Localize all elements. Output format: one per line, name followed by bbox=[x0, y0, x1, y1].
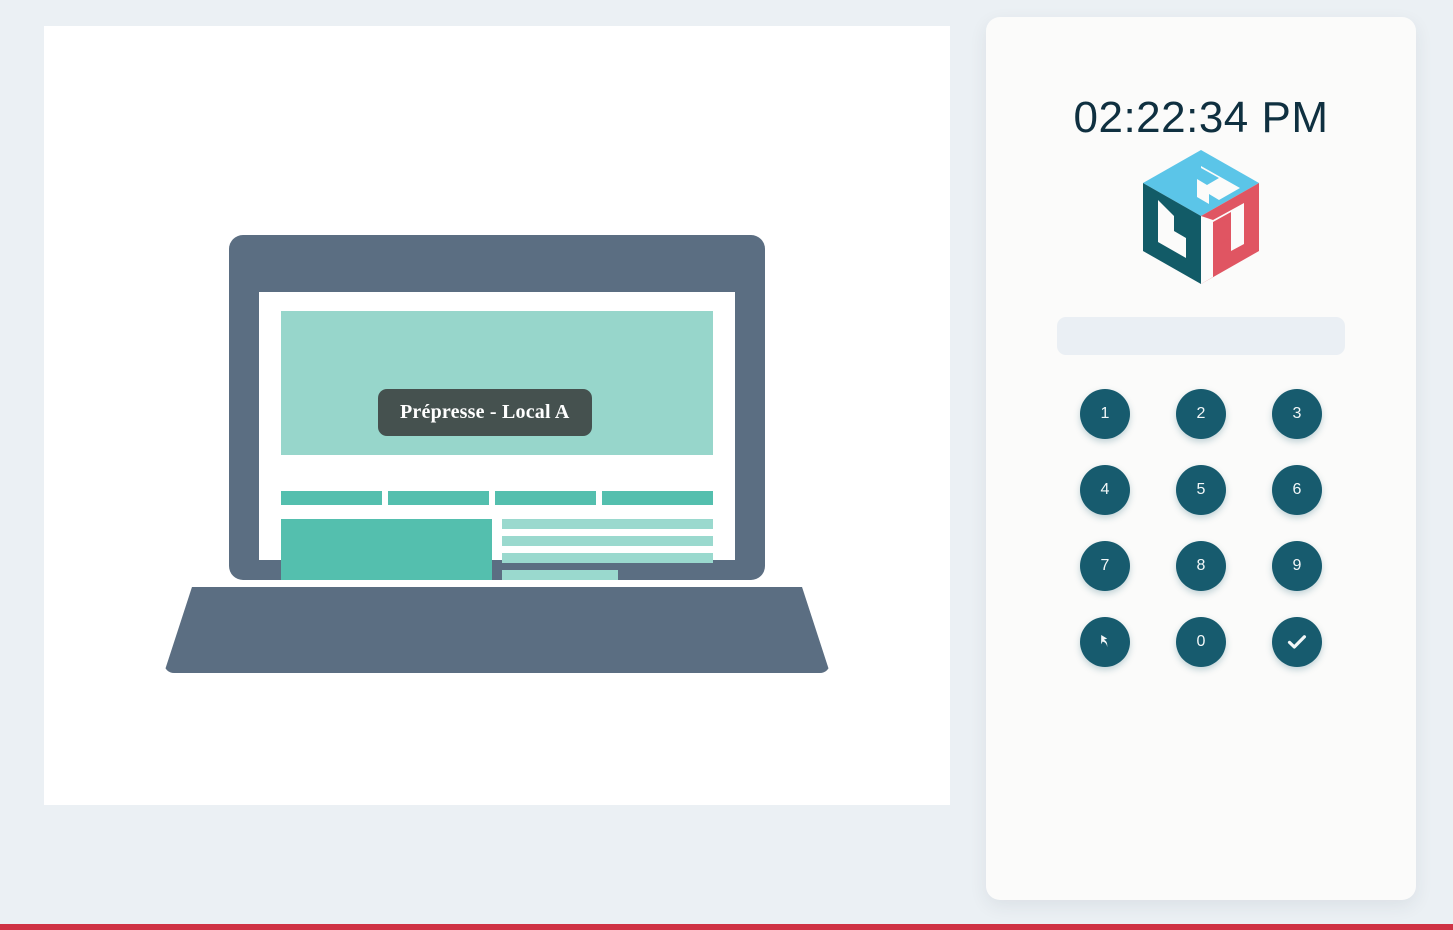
key-3[interactable]: 3 bbox=[1272, 389, 1322, 439]
key-5[interactable]: 5 bbox=[1176, 465, 1226, 515]
mock-nav-segment bbox=[495, 491, 596, 505]
checkmark-icon bbox=[1285, 630, 1309, 654]
mock-text-line bbox=[502, 570, 618, 580]
key-8[interactable]: 8 bbox=[1176, 541, 1226, 591]
key-label: 0 bbox=[1197, 633, 1206, 651]
key-7[interactable]: 7 bbox=[1080, 541, 1130, 591]
numeric-keypad: 1 2 3 4 5 6 7 8 9 bbox=[1057, 389, 1345, 667]
key-backspace[interactable] bbox=[1080, 617, 1130, 667]
mock-nav-segment bbox=[388, 491, 489, 505]
laptop-illustration: Prépresse - Local A bbox=[44, 26, 950, 805]
key-2[interactable]: 2 bbox=[1176, 389, 1226, 439]
clock-display: 02:22:34 PM bbox=[986, 93, 1416, 143]
key-label: 7 bbox=[1101, 557, 1110, 575]
mock-nav-segment bbox=[281, 491, 382, 505]
mock-text-line bbox=[502, 553, 713, 563]
key-label: 1 bbox=[1101, 405, 1110, 423]
mock-content-block bbox=[281, 519, 492, 580]
key-label: 9 bbox=[1293, 557, 1302, 575]
key-9[interactable]: 9 bbox=[1272, 541, 1322, 591]
mock-text-lines bbox=[502, 519, 713, 587]
isometric-cube-logo bbox=[1141, 148, 1261, 288]
key-0[interactable]: 0 bbox=[1176, 617, 1226, 667]
illustration-card: Prépresse - Local A bbox=[44, 26, 950, 805]
key-1[interactable]: 1 bbox=[1080, 389, 1130, 439]
key-confirm[interactable] bbox=[1272, 617, 1322, 667]
key-4[interactable]: 4 bbox=[1080, 465, 1130, 515]
kiosk-login-screen: Prépresse - Local A 02:22:34 PM bbox=[0, 0, 1453, 930]
mock-text-line bbox=[502, 536, 713, 546]
mock-nav-segment bbox=[602, 491, 713, 505]
key-6[interactable]: 6 bbox=[1272, 465, 1322, 515]
key-label: 3 bbox=[1293, 405, 1302, 423]
mock-nav-bar bbox=[281, 491, 713, 505]
key-label: 6 bbox=[1293, 481, 1302, 499]
mock-text-line bbox=[502, 519, 713, 529]
bottom-accent-bar bbox=[0, 924, 1453, 930]
station-tooltip: Prépresse - Local A bbox=[378, 389, 592, 436]
pin-input-display[interactable] bbox=[1057, 317, 1345, 355]
undo-arrow-icon bbox=[1094, 631, 1116, 653]
key-label: 8 bbox=[1197, 557, 1206, 575]
key-label: 5 bbox=[1197, 481, 1206, 499]
laptop-base bbox=[164, 587, 830, 673]
key-label: 4 bbox=[1101, 481, 1110, 499]
key-label: 2 bbox=[1197, 405, 1206, 423]
pin-login-panel: 02:22:34 PM bbox=[986, 17, 1416, 900]
